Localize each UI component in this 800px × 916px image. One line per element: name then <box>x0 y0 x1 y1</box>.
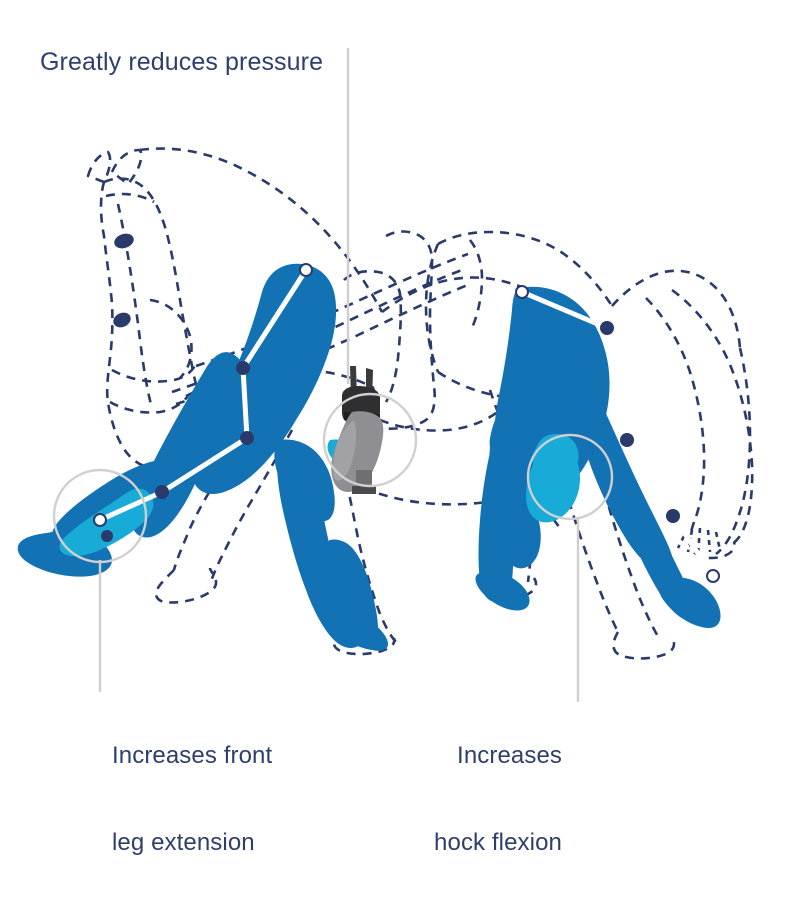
nostril-icon <box>111 310 133 330</box>
noseband-outline <box>112 364 196 382</box>
head-features <box>111 231 136 330</box>
joint-white-shoulder <box>300 264 312 276</box>
front-extension-line1: Increases front <box>112 741 272 770</box>
hock-flexion-line1: Increases <box>366 741 562 770</box>
horse-biomechanics-diagram <box>0 0 800 800</box>
joint-hind-fetlock <box>707 570 719 582</box>
neck-crest-outline <box>140 149 382 312</box>
joint-hock <box>666 509 680 523</box>
blue-hindquarter-and-hindleg <box>475 287 720 628</box>
joint-hip <box>600 321 614 335</box>
joint-elbow <box>236 361 250 375</box>
pressure-callout-label: Greatly reduces pressure <box>40 47 323 78</box>
joint-fetlock <box>155 485 169 499</box>
boot-sole-shape <box>352 486 376 494</box>
joint-point-of-hip <box>516 286 528 298</box>
cheek-outline <box>150 300 192 378</box>
right-fore-hoof-shape <box>475 571 529 610</box>
right-hind-hoof-shape <box>659 578 720 629</box>
ear-left-outline <box>88 152 110 182</box>
eye-icon <box>112 231 135 250</box>
hock-flexion-line2: hock flexion <box>366 828 562 857</box>
girth-outline <box>380 410 500 431</box>
right-croup-outline <box>612 271 740 348</box>
joint-pastern <box>101 530 113 542</box>
joint-knee <box>240 431 254 445</box>
forehoof-dashed-outline <box>156 568 216 603</box>
front-extension-callout-label: Increases front leg extension <box>112 682 272 916</box>
browband-outline <box>106 194 154 202</box>
right-saddle-area-outline <box>470 240 482 328</box>
left-hind-hoof-shape <box>328 611 389 650</box>
joint-hoof-white <box>94 514 106 526</box>
right-belly-outline <box>426 244 438 372</box>
right-hindhoof-dashed <box>614 632 675 659</box>
joint-stifle <box>620 433 634 447</box>
infographic-canvas: Greatly reduces pressure Increases front… <box>0 0 800 800</box>
front-extension-line2: leg extension <box>112 828 272 857</box>
hock-flexion-callout-label: Increases hock flexion <box>366 682 562 916</box>
